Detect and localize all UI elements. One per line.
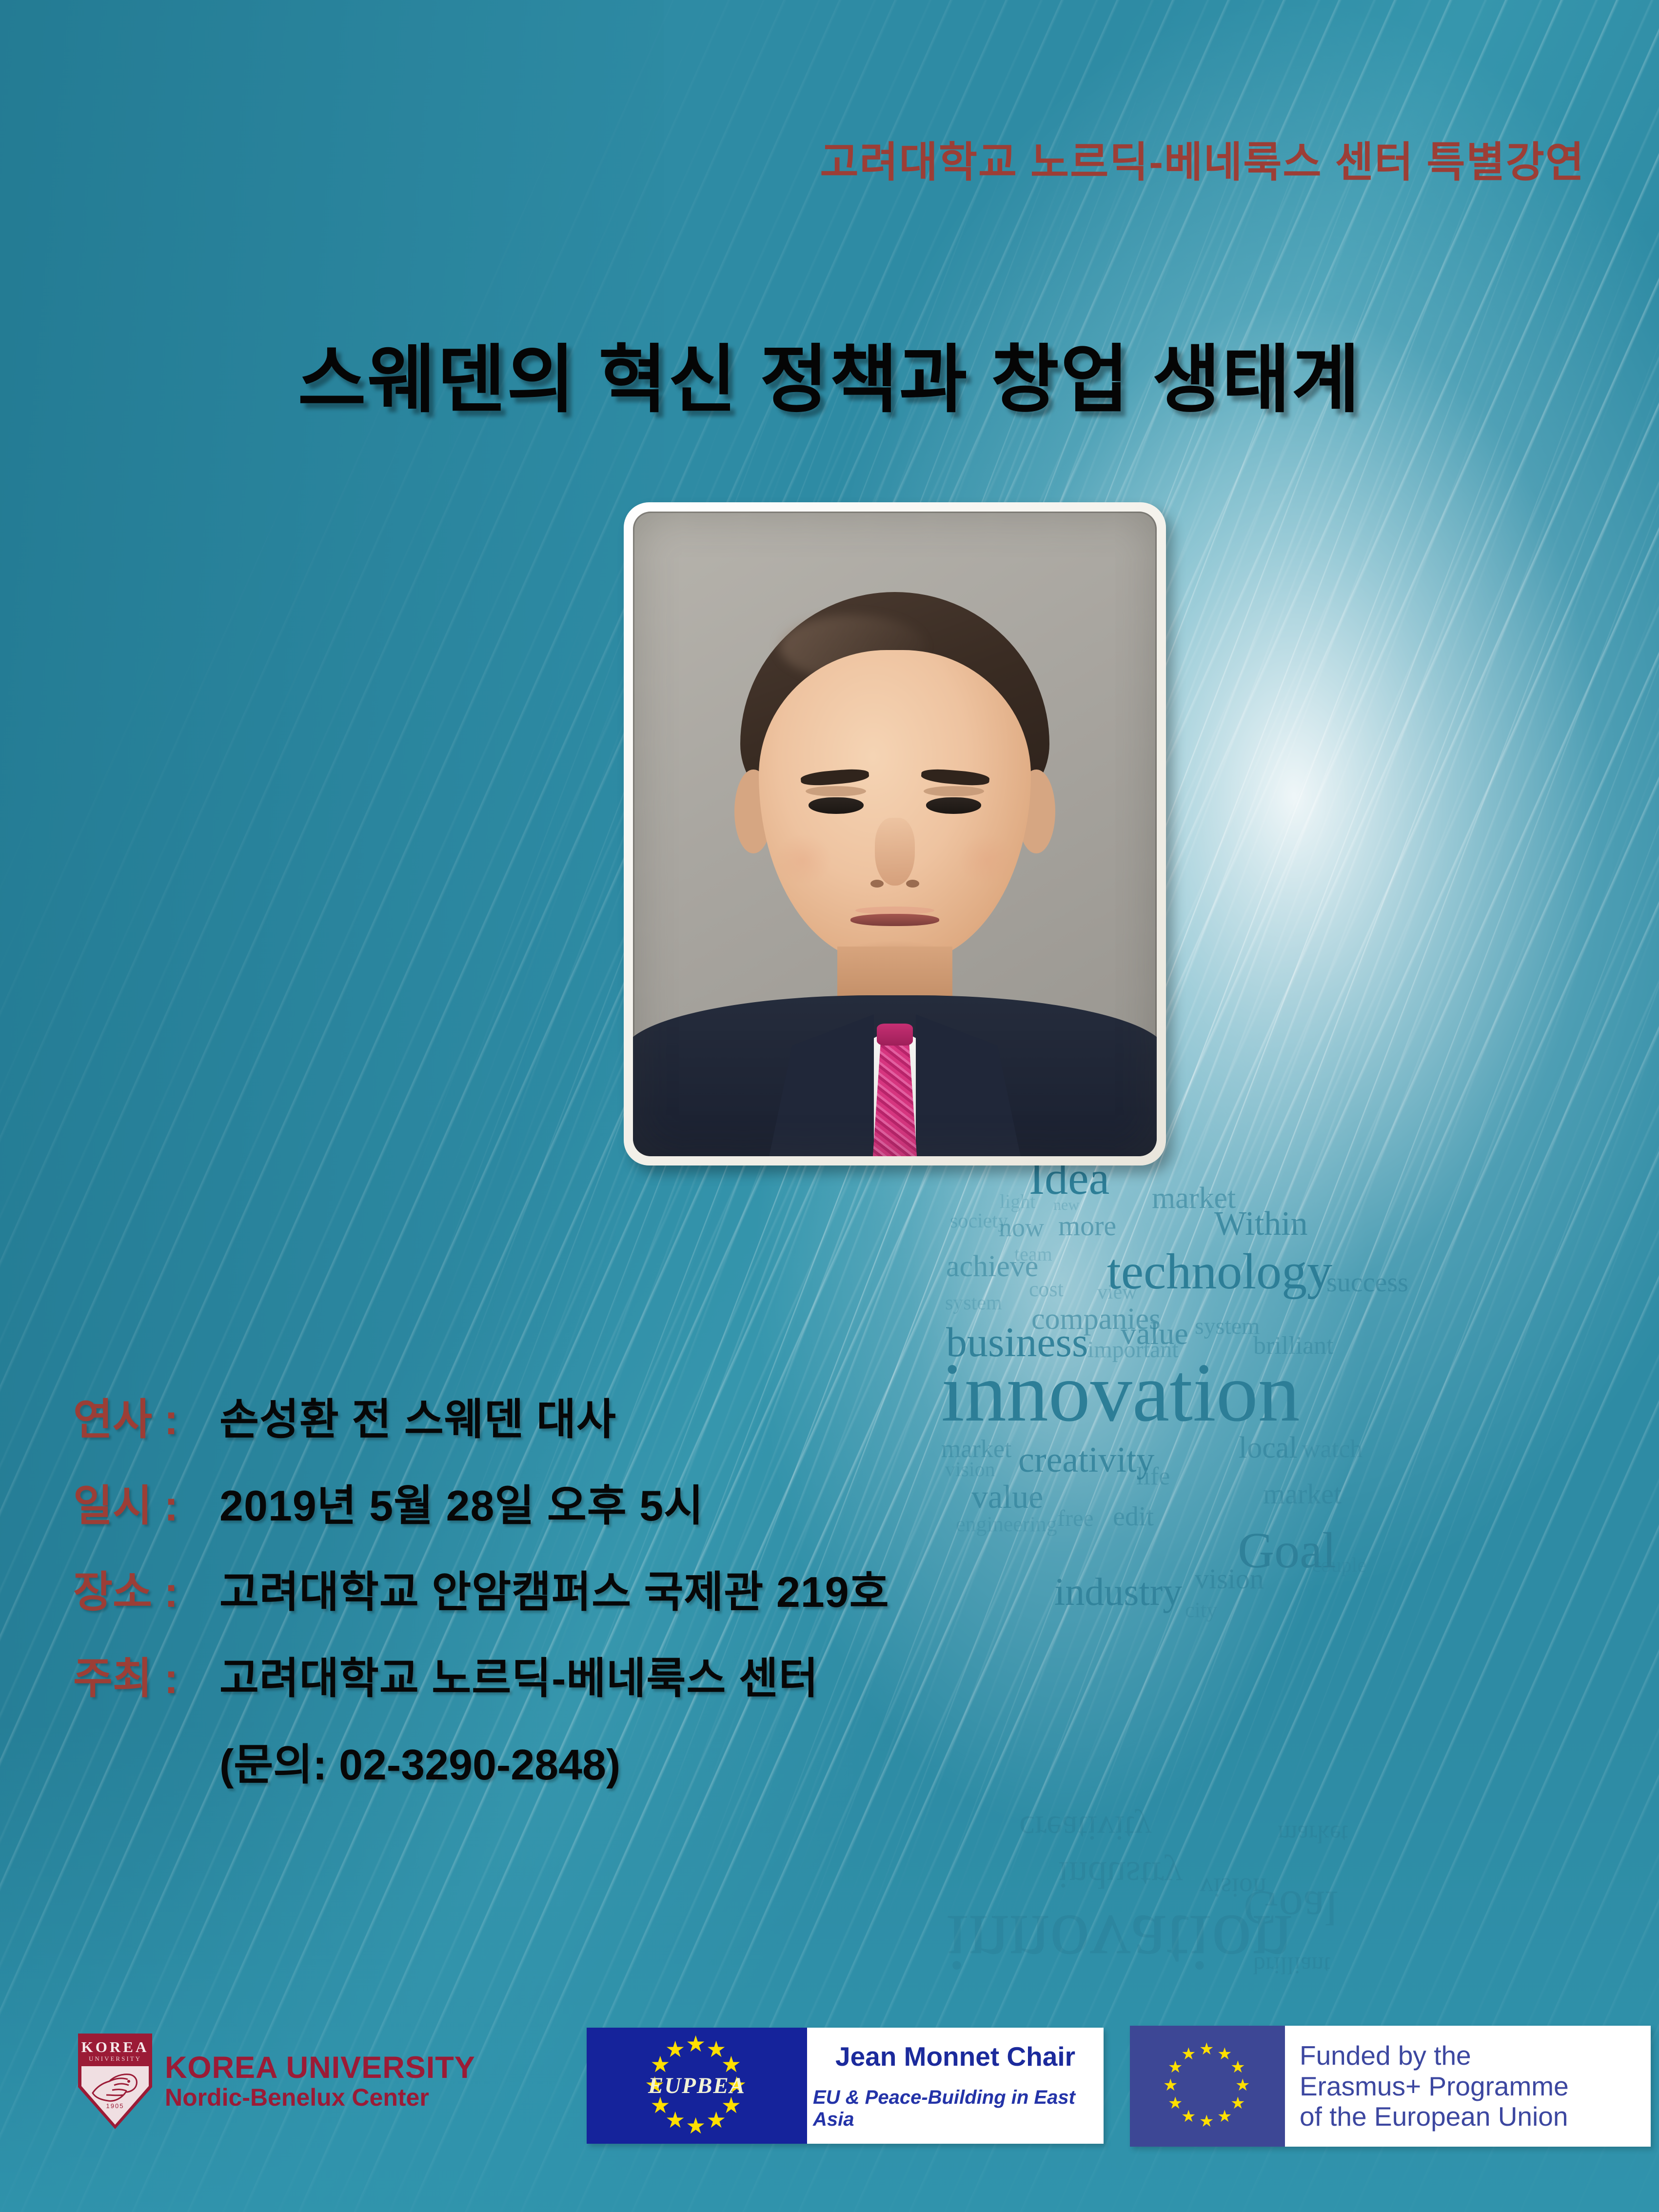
detail-value-venue: 고려대학교 안암캠퍼스 국제관 219호 [219,1558,889,1619]
eupbea-label: EUPBEA [587,2073,807,2099]
eu-star-icon: ★ [1217,2108,1232,2125]
eu-star-icon: ★ [1181,2108,1196,2125]
korea-university-wordmark: KOREA UNIVERSITY Nordic-Benelux Center [165,2052,475,2111]
jean-monnet-chair-logo: ★★★★★★★★★★★★ EUPBEA Jean Monnet Chair EU… [587,2028,1104,2144]
tiger-icon [90,2071,140,2107]
event-poster: IdeamarketvaluelightnewWithinsocietynowm… [0,0,1659,2212]
erasmus-funding-logo: ★★★★★★★★★★★★ Funded by the Erasmus+ Prog… [1130,2026,1651,2147]
eu-star-icon: ★ [1235,2077,1250,2093]
eu-star-icon: ★ [1181,2046,1196,2062]
poster-title: 스웨덴의 혁신 정책과 창업 생태계 [0,319,1659,427]
detail-label-speaker: 연사 : [73,1385,219,1447]
eu-star-icon: ★ [1230,2059,1245,2075]
detail-row-datetime: 일시 : 2019년 5월 28일 오후 5시 [73,1471,1000,1533]
shield-year: 1905 [78,2102,152,2110]
speaker-photo-frame [624,502,1166,1165]
eu-star-icon: ★ [1168,2095,1183,2112]
event-details: 연사 : 손성환 전 스웨덴 대사 일시 : 2019년 5월 28일 오후 5… [73,1385,1000,1792]
eu-star-icon: ★ [686,2114,706,2137]
eu-star-icon: ★ [1217,2046,1232,2062]
eu-star-icon: ★ [1230,2095,1245,2112]
eu-star-icon: ★ [1199,2041,1214,2057]
erasmus-line-1: Funded by the [1300,2040,1651,2071]
detail-label-organizer: 주최 : [73,1644,219,1706]
eu-star-icon: ★ [1163,2077,1178,2093]
detail-row-speaker: 연사 : 손성환 전 스웨덴 대사 [73,1385,1000,1447]
detail-value-datetime: 2019년 5월 28일 오후 5시 [219,1471,704,1533]
eu-flag-icon: ★★★★★★★★★★★★ [1130,2026,1285,2147]
detail-row-venue: 장소 : 고려대학교 안암캠퍼스 국제관 219호 [73,1558,1000,1619]
contact-phone: (문의: 02-3290-2848) [219,1730,1000,1792]
detail-label-venue: 장소 : [73,1558,219,1619]
korea-university-logo: KOREA UNIVERSITY 1905 KOREA UNIVERSITY N… [78,2034,475,2129]
jean-monnet-chair-subtitle: EU & Peace-Building in East Asia [813,2087,1098,2131]
erasmus-text: Funded by the Erasmus+ Programme of the … [1285,2026,1651,2147]
detail-row-organizer: 주최 : 고려대학교 노르딕-베네룩스 센터 [73,1644,1000,1706]
sponsor-logo-bar: KOREA UNIVERSITY 1905 KOREA UNIVERSITY N… [0,2028,1659,2150]
detail-label-datetime: 일시 : [73,1471,219,1533]
korea-university-name: KOREA UNIVERSITY [165,2052,475,2084]
nordic-benelux-center-name: Nordic-Benelux Center [165,2084,475,2111]
jean-monnet-text: Jean Monnet Chair EU & Peace-Building in… [807,2028,1104,2144]
detail-value-organizer: 고려대학교 노르딕-베네룩스 센터 [219,1644,819,1706]
detail-value-speaker: 손성환 전 스웨덴 대사 [219,1385,616,1447]
erasmus-line-3: of the European Union [1300,2101,1651,2132]
shield-crest-sub-text: UNIVERSITY [78,2055,152,2063]
portrait-vignette [633,512,1157,1156]
jean-monnet-chair-title: Jean Monnet Chair [835,2041,1075,2072]
eu-star-icon: ★ [686,2033,706,2055]
eu-star-icon: ★ [1199,2113,1214,2130]
eu-star-icon: ★ [1168,2059,1183,2075]
eupbea-flag-icon: ★★★★★★★★★★★★ EUPBEA [587,2028,807,2144]
erasmus-line-2: Erasmus+ Programme [1300,2071,1651,2102]
eu-stars-circle-erasmus: ★★★★★★★★★★★★ [1130,2026,1285,2147]
korea-university-shield-icon: KOREA UNIVERSITY 1905 [78,2034,152,2129]
speaker-photo [633,512,1157,1156]
shield-crest-top-text: KOREA [78,2038,152,2056]
poster-header: 고려대학교 노르딕-베네룩스 센터 특별강연 [0,128,1585,189]
eu-star-icon: ★ [706,2109,726,2131]
eu-star-icon: ★ [665,2038,685,2060]
